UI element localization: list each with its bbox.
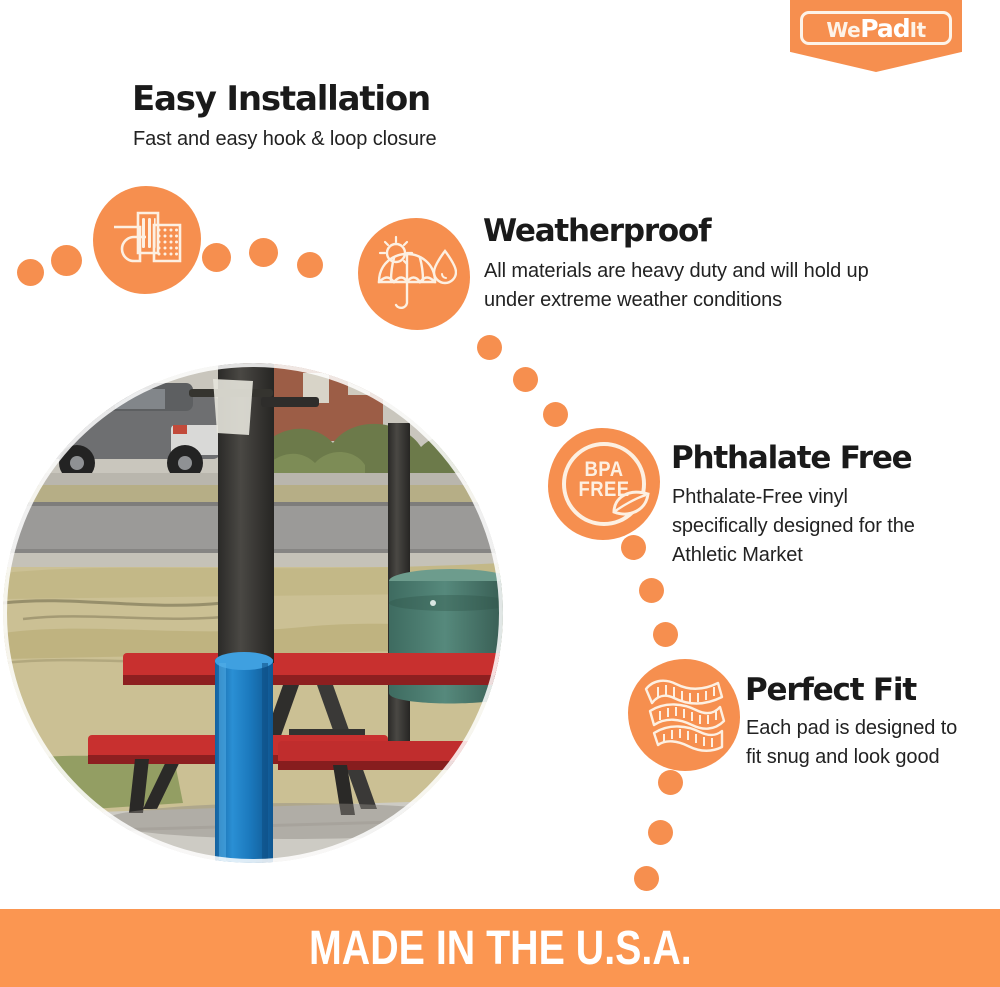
path-dot bbox=[249, 238, 278, 267]
feature-desc-phthalate-free: Phthalate-Free vinyl specifically design… bbox=[672, 483, 937, 570]
hook-and-loop-icon bbox=[110, 209, 184, 271]
path-dot bbox=[621, 535, 646, 560]
measuring-tape-icon bbox=[640, 673, 728, 757]
path-dot bbox=[543, 402, 568, 427]
logo-text-pad: Pad bbox=[860, 14, 909, 43]
infographic-page: WePadIt bbox=[0, 0, 1000, 987]
feature-desc-weatherproof: All materials are heavy duty and will ho… bbox=[484, 257, 894, 315]
logo-text-we: We bbox=[826, 18, 860, 42]
made-in-usa-text: MADE IN THE U.S.A. bbox=[309, 921, 692, 976]
path-dot bbox=[658, 770, 683, 795]
feature-title-phthalate-free: Phthalate Free bbox=[671, 440, 912, 476]
brand-logo: WePadIt bbox=[790, 0, 962, 72]
feature-title-easy-installation: Easy Installation bbox=[132, 79, 430, 119]
feature-icon-hook-and-loop bbox=[93, 186, 201, 294]
path-dot bbox=[297, 252, 323, 278]
path-dot bbox=[639, 578, 664, 603]
bpa-free-leaf-icon: BPA FREE bbox=[556, 436, 652, 532]
path-dot bbox=[513, 367, 538, 392]
sun-umbrella-rain-icon bbox=[371, 234, 457, 314]
feature-desc-perfect-fit: Each pad is designed to fit snug and loo… bbox=[746, 714, 974, 772]
path-dot bbox=[202, 243, 231, 272]
bpa-label-line2: FREE bbox=[578, 478, 629, 501]
feature-icon-phthalate-free: BPA FREE bbox=[548, 428, 660, 540]
bpa-free-label: BPA FREE bbox=[562, 460, 646, 500]
path-dot bbox=[477, 335, 502, 360]
feature-icon-perfect-fit bbox=[628, 659, 740, 771]
logo-text-it: It bbox=[910, 18, 926, 42]
path-dot bbox=[634, 866, 659, 891]
made-in-usa-banner: MADE IN THE U.S.A. bbox=[0, 909, 1000, 987]
feature-icon-weatherproof bbox=[358, 218, 470, 330]
feature-title-weatherproof: Weatherproof bbox=[483, 213, 710, 249]
blue-pole-pad bbox=[215, 652, 273, 863]
path-dot bbox=[653, 622, 678, 647]
path-dot bbox=[51, 245, 82, 276]
product-photo bbox=[3, 363, 503, 863]
product-photo-illustration bbox=[3, 363, 503, 863]
logo-frame: WePadIt bbox=[800, 11, 952, 45]
path-dot bbox=[17, 259, 44, 286]
feature-desc-easy-installation: Fast and easy hook & loop closure bbox=[133, 126, 553, 153]
path-dot bbox=[648, 820, 673, 845]
feature-title-perfect-fit: Perfect Fit bbox=[745, 672, 916, 708]
